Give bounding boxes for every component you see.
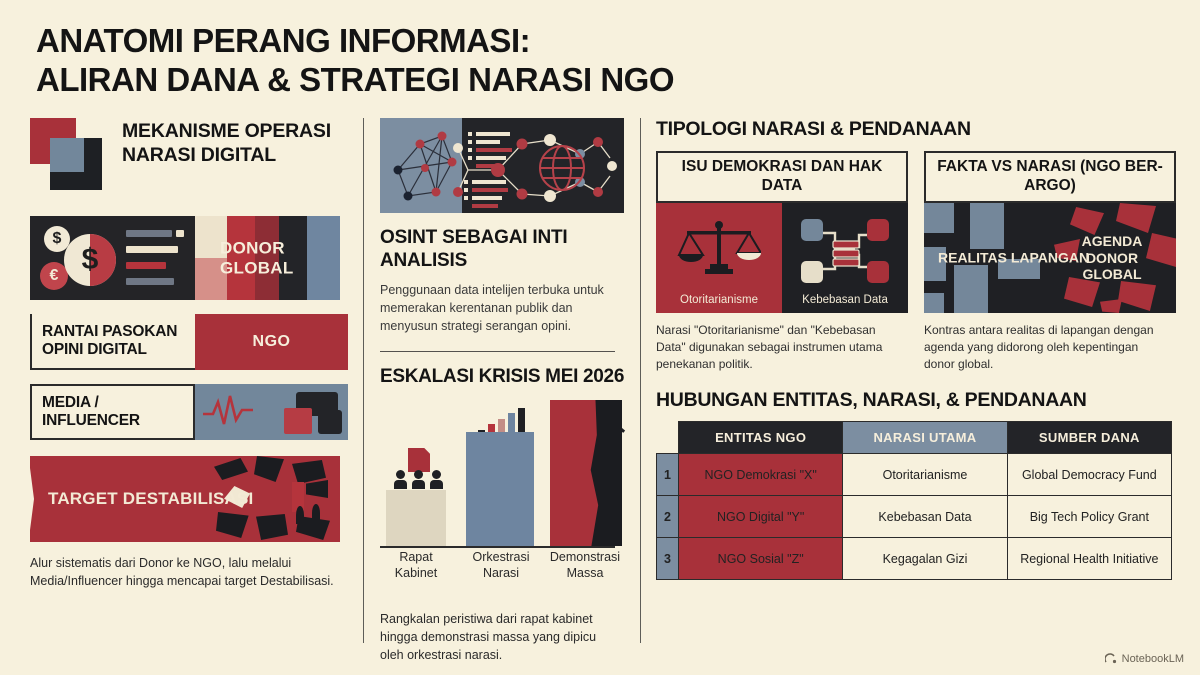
card-2-title: FAKTA VS NARASI (NGO BER-ARGO) xyxy=(924,151,1176,203)
card-1-right-half: Kebebasan Data xyxy=(782,203,908,313)
row-2-index: 2 xyxy=(657,496,679,538)
row-3-entitas: NGO Sosial "Z" xyxy=(679,538,843,580)
row-3-narasi: Kegagalan Gizi xyxy=(843,538,1007,580)
table-header-index xyxy=(657,422,679,454)
left-caption: Alur sistematis dari Donor ke NGO, lalu … xyxy=(30,554,342,590)
title-line-2: ALIRAN DANA & STRATEGI NARASI NGO xyxy=(36,61,736,100)
row-3-sumber: Regional Health Initiative xyxy=(1007,538,1171,580)
column-divider-left xyxy=(363,118,364,643)
typology-section-title: TIPOLOGI NARASI & PENDANAAN xyxy=(656,118,1176,141)
entity-narrative-funding-table: ENTITAS NGO NARASI UTAMA SUMBER DANA 1 N… xyxy=(656,421,1172,580)
card-fakta-vs-narasi: FAKTA VS NARASI (NGO BER-ARGO) xyxy=(924,151,1176,373)
target-destabilisation-banner: TARGET DESTABILISASI xyxy=(30,456,340,542)
network-graph-icon xyxy=(380,118,624,213)
bar-rapat-kabinet xyxy=(386,490,446,546)
card-1-title: ISU DEMOKRASI DAN HAK DATA xyxy=(656,151,908,203)
donor-global-label: DONOR GLOBAL xyxy=(220,238,330,277)
data-network-icon xyxy=(799,215,891,287)
page-title: ANATOMI PERANG INFORMASI: ALIRAN DANA & … xyxy=(36,22,736,100)
table-header-entitas: ENTITAS NGO xyxy=(679,422,843,454)
table-row: 1 NGO Demokrasi "X" Otoritarianisme Glob… xyxy=(657,454,1172,496)
dark-square-icon xyxy=(318,410,342,434)
money-illustration: $ € $ xyxy=(30,216,195,300)
row-1-entitas: NGO Demokrasi "X" xyxy=(679,454,843,496)
x-label-1: Orkestrasi Narasi xyxy=(462,550,540,581)
osint-network-graphic xyxy=(380,118,624,213)
typology-cards: ISU DEMOKRASI DAN HAK DATA xyxy=(656,151,1176,373)
row-2-sumber: Big Tech Policy Grant xyxy=(1007,496,1171,538)
watermark: NotebookLM xyxy=(1105,653,1184,665)
row-2-narasi: Kebebasan Data xyxy=(843,496,1007,538)
card-1-image: Otoritarianisme xyxy=(656,203,908,313)
osint-title: OSINT SEBAGAI INTI ANALISIS xyxy=(380,227,628,273)
notebooklm-icon xyxy=(1105,653,1117,665)
table-header-narasi: NARASI UTAMA xyxy=(843,422,1007,454)
mechanism-header: MEKANISME OPERASI NARASI DIGITAL xyxy=(30,118,348,204)
escalation-chart: ESKALASI KRISIS MEI 2026 xyxy=(380,366,628,596)
row-3-index: 3 xyxy=(657,538,679,580)
row-1-narasi: Otoritarianisme xyxy=(843,454,1007,496)
row-2-entitas: NGO Digital "Y" xyxy=(679,496,843,538)
ngo-badge: NGO xyxy=(195,314,348,370)
middle-separator xyxy=(380,351,615,352)
x-label-2: Demonstrasi Massa xyxy=(544,550,626,581)
red-square-icon xyxy=(284,408,312,434)
card-2-caption: Kontras antara realitas di lapangan deng… xyxy=(924,322,1170,373)
chart-title: ESKALASI KRISIS MEI 2026 xyxy=(380,366,628,389)
media-influencer-row: MEDIA / INFLUENCER xyxy=(30,384,348,440)
chart-baseline xyxy=(380,546,615,548)
card-2-right-label: AGENDA DONOR GLOBAL xyxy=(1060,233,1164,283)
x-label-0: Rapat Kabinet xyxy=(380,550,452,581)
table-row: 2 NGO Digital "Y" Kebebasan Data Big Tec… xyxy=(657,496,1172,538)
column-divider-right xyxy=(640,118,641,643)
chart-caption: Rangkalan peristiwa dari rapat kabinet h… xyxy=(380,610,620,664)
supply-chain-row: RANTAI PASOKAN OPINI DIGITAL NGO xyxy=(30,314,348,370)
row-1-sumber: Global Democracy Fund xyxy=(1007,454,1171,496)
media-influencer-label: MEDIA / INFLUENCER xyxy=(30,384,195,440)
table-section-title: HUBUNGAN ENTITAS, NARASI, & PENDANAAN xyxy=(656,389,1176,412)
dollar-coin-large-icon: $ xyxy=(64,234,116,286)
justice-scales-icon xyxy=(677,219,761,281)
target-label: TARGET DESTABILISASI xyxy=(48,489,254,509)
chart-plot-area xyxy=(380,398,628,548)
table-row: 3 NGO Sosial "Z" Kegagalan Gizi Regional… xyxy=(657,538,1172,580)
watermark-label: NotebookLM xyxy=(1122,653,1184,665)
card-1-left-label: Otoritarianisme xyxy=(680,294,758,313)
card-1-caption: Narasi "Otoritarianisme" dan "Kebebasan … xyxy=(656,322,902,373)
card-isu-demokrasi: ISU DEMOKRASI DAN HAK DATA xyxy=(656,151,908,373)
squares-logo-icon xyxy=(30,118,106,194)
right-column: TIPOLOGI NARASI & PENDANAAN ISU DEMOKRAS… xyxy=(656,118,1176,580)
bar-demonstrasi-massa xyxy=(550,400,622,546)
card-1-left-half: Otoritarianisme xyxy=(656,203,782,313)
donor-global-banner: $ € $ DONOR GLOBAL xyxy=(30,216,340,300)
card-1-right-label: Kebebasan Data xyxy=(802,294,888,313)
table-header-row: ENTITAS NGO NARASI UTAMA SUMBER DANA xyxy=(657,422,1172,454)
row-1-index: 1 xyxy=(657,454,679,496)
left-column: MEKANISME OPERASI NARASI DIGITAL $ € $ D… xyxy=(30,118,348,590)
mechanism-title: MEKANISME OPERASI NARASI DIGITAL xyxy=(122,118,348,168)
chart-x-labels: Rapat Kabinet Orkestrasi Narasi Demonstr… xyxy=(380,550,628,590)
osint-body: Penggunaan data intelijen terbuka untuk … xyxy=(380,281,618,335)
supply-chain-label: RANTAI PASOKAN OPINI DIGITAL xyxy=(30,314,195,370)
bar-orkestrasi-narasi xyxy=(466,432,534,546)
infographic-page: ANATOMI PERANG INFORMASI: ALIRAN DANA & … xyxy=(0,0,1200,675)
card-2-image: REALITAS LAPANGAN AGENDA DONOR GLOBAL xyxy=(924,203,1176,313)
title-line-1: ANATOMI PERANG INFORMASI: xyxy=(36,22,736,61)
middle-column: OSINT SEBAGAI INTI ANALISIS Penggunaan d… xyxy=(380,118,628,596)
table-header-sumber: SUMBER DANA xyxy=(1007,422,1171,454)
media-visual xyxy=(195,384,348,440)
pulse-wave-icon xyxy=(201,392,271,432)
